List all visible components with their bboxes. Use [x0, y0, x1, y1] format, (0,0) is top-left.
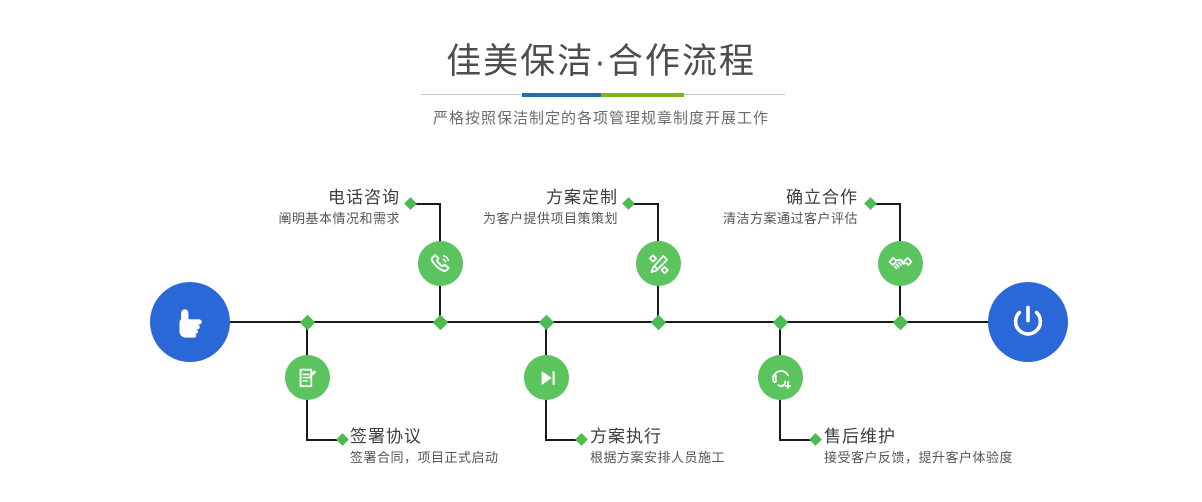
phone-call-icon: [427, 250, 454, 277]
power-icon: [1005, 299, 1051, 345]
timeline-start-node[interactable]: [150, 282, 230, 362]
step-title-1: 电话咨询: [155, 186, 400, 209]
process-flow-infographic: 佳美保洁·合作流程 严格按照保洁制定的各项管理规章制度开展工作: [0, 0, 1202, 502]
page-title: 佳美保洁·合作流程: [0, 40, 1202, 84]
connector-tip-5: [864, 197, 877, 210]
timeline-marker-3: [651, 315, 667, 331]
step-desc-2: 签署合同，项目正式启动: [350, 448, 600, 468]
step-desc-5: 清洁方案通过客户评估: [610, 209, 858, 229]
timeline-marker-4: [539, 315, 555, 331]
step-desc-1: 阐明基本情况和需求: [155, 209, 400, 229]
step-title-6: 售后维护: [824, 425, 1084, 448]
step-node-2[interactable]: [285, 355, 330, 400]
headset-support-icon: [768, 365, 794, 391]
page-subtitle: 严格按照保洁制定的各项管理规章制度开展工作: [0, 108, 1202, 130]
handshake-icon: [887, 250, 914, 277]
step-desc-4: 根据方案安排人员施工: [590, 448, 840, 468]
step-node-5[interactable]: [878, 241, 923, 286]
pencil-ruler-icon: [646, 251, 672, 277]
step-desc-6: 接受客户反馈，提升客户体验度: [824, 448, 1084, 468]
step-node-6[interactable]: [758, 355, 803, 400]
step-title-4: 方案执行: [590, 425, 840, 448]
document-pen-icon: [295, 365, 321, 391]
timeline-marker-5: [893, 315, 909, 331]
pointing-hand-icon: [168, 300, 212, 344]
step-node-3[interactable]: [636, 241, 681, 286]
step-node-1[interactable]: [418, 241, 463, 286]
step-node-4[interactable]: [524, 355, 569, 400]
step-label-4: 方案执行 根据方案安排人员施工: [590, 425, 840, 468]
timeline-marker-2: [300, 315, 316, 331]
step-label-2: 签署协议 签署合同，项目正式启动: [350, 425, 600, 468]
timeline-end-node[interactable]: [988, 282, 1068, 362]
step-label-1: 电话咨询 阐明基本情况和需求: [155, 186, 400, 229]
step-title-2: 签署协议: [350, 425, 600, 448]
play-execute-icon: [534, 365, 560, 391]
divider-segment-olive: [601, 93, 684, 97]
title-divider: [421, 93, 785, 97]
timeline-marker-6: [773, 315, 789, 331]
timeline-marker-1: [433, 315, 449, 331]
step-label-5: 确立合作 清洁方案通过客户评估: [610, 186, 858, 229]
step-title-5: 确立合作: [610, 186, 858, 209]
step-desc-3: 为客户提供项目策策划: [370, 209, 618, 229]
step-label-6: 售后维护 接受客户反馈，提升客户体验度: [824, 425, 1084, 468]
divider-segment-blue: [522, 93, 601, 97]
connector-tip-2: [336, 433, 349, 446]
